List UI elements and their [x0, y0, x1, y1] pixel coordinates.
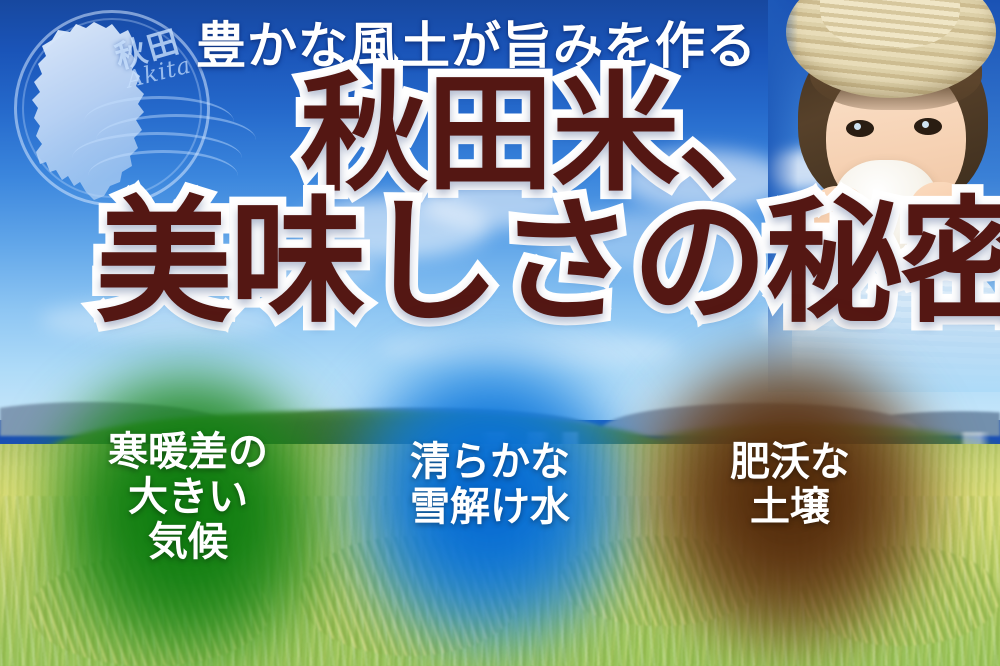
badge-soil: 肥沃な 土壌	[640, 352, 940, 652]
title-line-1: 秋田米、	[0, 70, 1000, 198]
badge-climate-line-2: 大きい	[38, 475, 338, 520]
banner-title: 秋田米、 美味しさの秘密	[0, 70, 1000, 330]
badge-climate-text: 寒暖差の 大きい 気候	[38, 430, 338, 564]
badge-soil-text: 肥沃な 土壌	[640, 440, 940, 530]
badge-water-text: 清らかな 雪解け水	[340, 440, 640, 530]
badge-climate-line-3: 気候	[38, 520, 338, 565]
badge-climate: 寒暖差の 大きい 気候	[38, 368, 338, 666]
feature-badges: 寒暖差の 大きい 気候 清らかな 雪解け水 肥沃な 土壌	[0, 330, 1000, 666]
badge-water: 清らかな 雪解け水	[340, 352, 640, 652]
badge-soil-line-1: 肥沃な	[640, 440, 940, 485]
badge-soil-line-2: 土壌	[640, 485, 940, 530]
title-line-2: 美味しさの秘密	[0, 194, 1000, 330]
badge-water-line-1: 清らかな	[340, 440, 640, 485]
badge-water-line-2: 雪解け水	[340, 485, 640, 530]
akita-rice-banner: 秋田 Akita 豊かな風土が旨みを作る 秋田米、 美味しさの秘密 寒暖差の 大…	[0, 0, 1000, 666]
badge-climate-line-1: 寒暖差の	[38, 430, 338, 475]
